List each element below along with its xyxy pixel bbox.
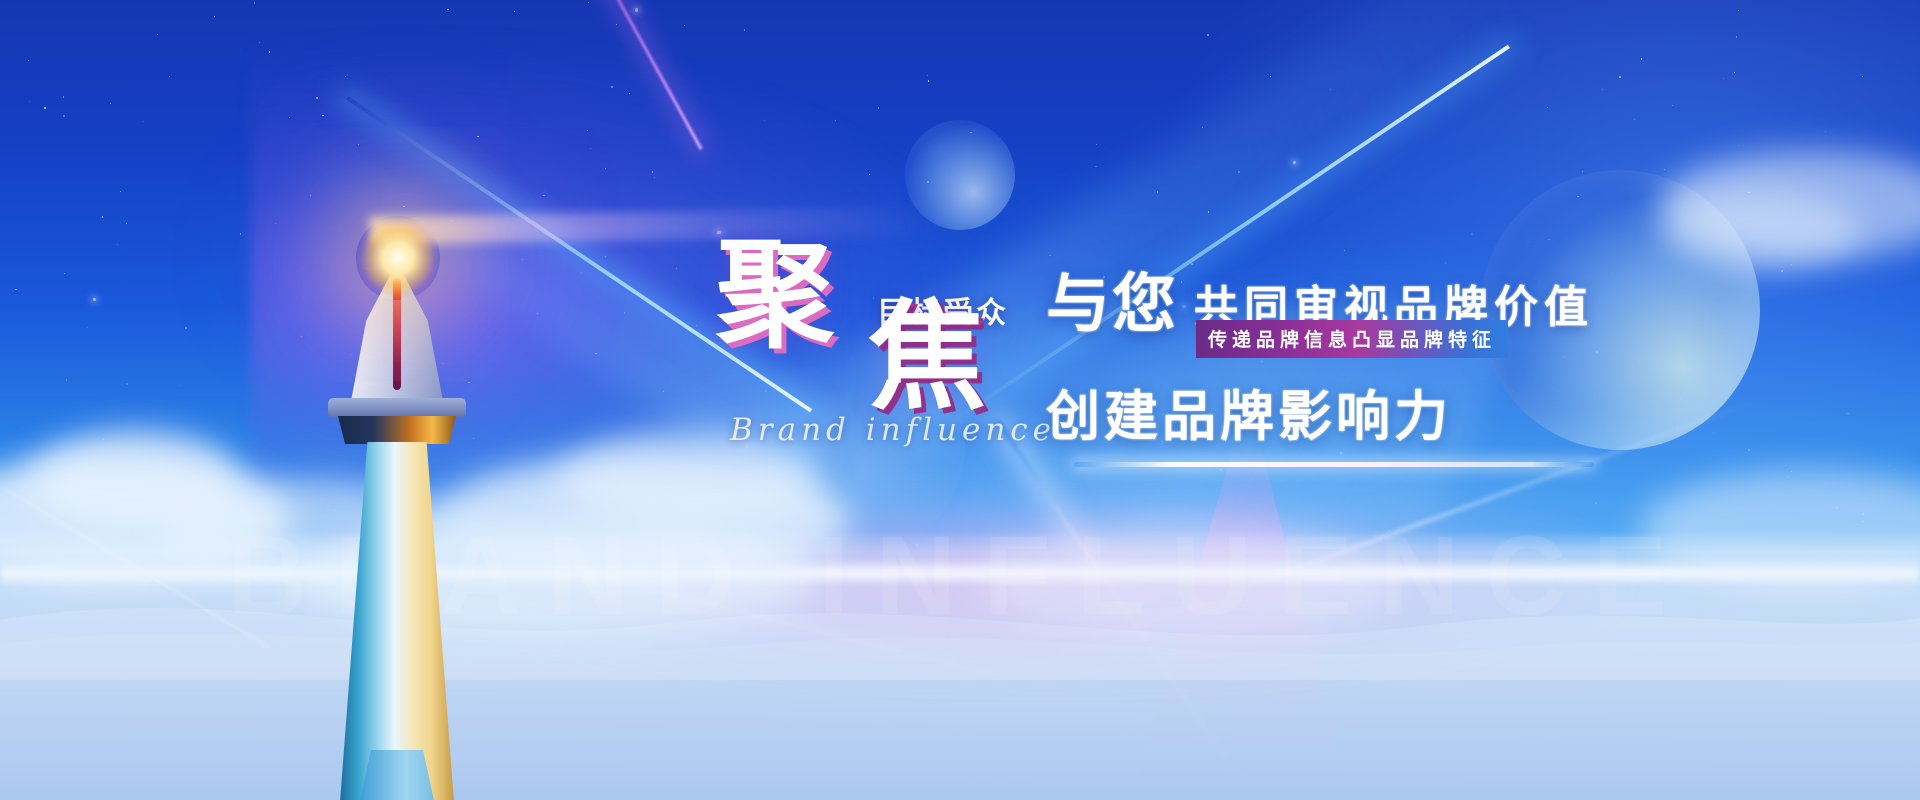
headline-underline (1074, 462, 1594, 467)
headline-char-jiao: 焦 (868, 300, 986, 418)
headline-lead: 与您 (1046, 272, 1178, 336)
headline-line-2: 创建品牌影响力 (1046, 372, 1452, 451)
promo-banner: BRAND INFLUENCE 聚 目标受众 Brand influence 焦… (0, 0, 1920, 800)
headline-char-ju: 聚 (716, 238, 834, 356)
tagline-badge: 传递品牌信息凸显品牌特征 (1196, 320, 1508, 358)
right-text-block: 与您 共同审视品牌价值 传递品牌信息凸显品牌特征 创建品牌影响力 (1046, 272, 1666, 336)
headline-content: 聚 目标受众 Brand influence 焦 与您 共同审视品牌价值 传递品… (0, 0, 1920, 800)
